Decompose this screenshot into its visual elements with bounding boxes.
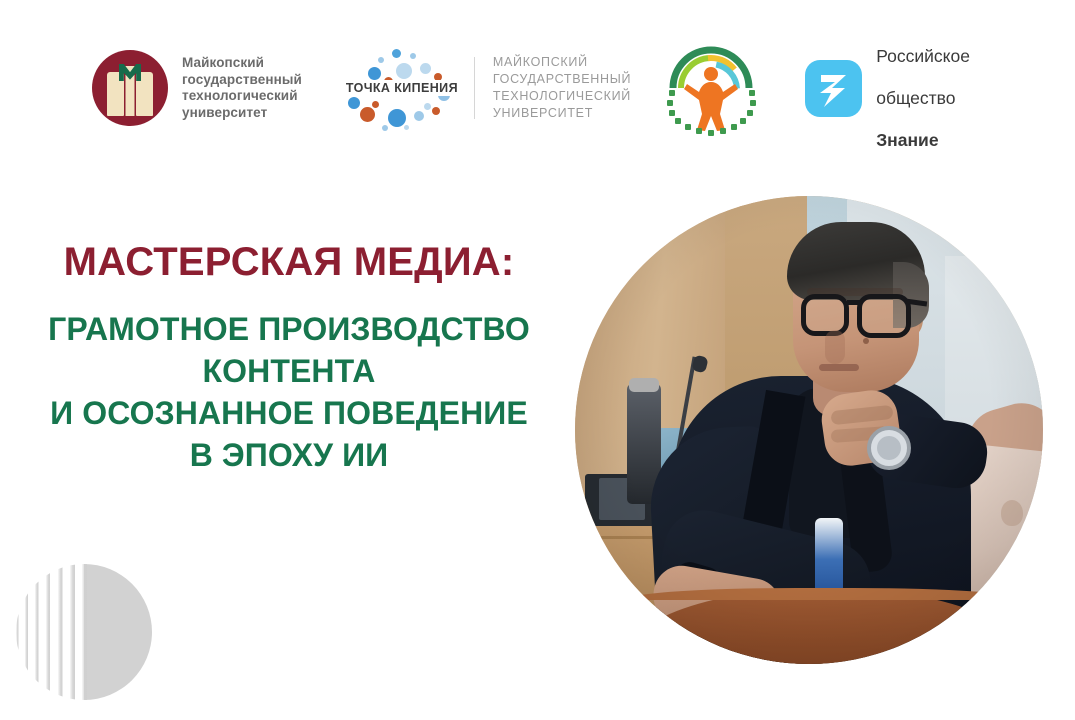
logo-znanie: Российское общество Знание	[805, 25, 970, 151]
mgtu-emblem-icon	[92, 50, 168, 126]
tochka-kipeniya-dots-icon: ТОЧКА КИПЕНИЯ	[338, 45, 466, 131]
logo-znanie-wordmark: Российское общество Знание	[876, 25, 970, 151]
poster-canvas: Майкопский государственный технологическ…	[0, 0, 1075, 720]
title-block: МАСТЕРСКАЯ МЕДИА: ГРАМОТНОЕ ПРОИЗВОДСТВО…	[0, 238, 578, 476]
poster-title: МАСТЕРСКАЯ МЕДИА:	[0, 238, 578, 286]
subtitle-line-3: И ОСОЗНАННОЕ ПОВЕДЕНИЕ	[0, 392, 578, 434]
logo-mgtu-partner-wordmark: МАЙКОПСКИЙ ГОСУДАРСТВЕННЫЙ ТЕХНОЛОГИЧЕСК…	[493, 54, 631, 122]
logo-tochka-kipeniya: ТОЧКА КИПЕНИЯ МАЙКОПСКИЙ ГОСУДАРСТВЕННЫЙ…	[338, 45, 631, 131]
subtitle-line-2: КОНТЕНТА	[0, 350, 578, 392]
subtitle-line-4: В ЭПОХУ ИИ	[0, 434, 578, 476]
logo-divider	[474, 57, 475, 119]
subtitle-line-1: ГРАМОТНОЕ ПРОИЗВОДСТВО	[0, 308, 578, 350]
znanie-line-1: Российское	[876, 46, 970, 66]
tochka-kipeniya-label: ТОЧКА КИПЕНИЯ	[344, 80, 460, 96]
logo-bar: Майкопский государственный технологическ…	[92, 38, 1017, 138]
znanie-line-2: общество	[876, 88, 955, 108]
logo-rainbow-person	[661, 42, 761, 134]
logo-mgtu: Майкопский государственный технологическ…	[92, 50, 302, 126]
logo-mgtu-wordmark: Майкопский государственный технологическ…	[182, 55, 302, 121]
znanie-line-3: Знание	[876, 130, 938, 150]
speaker-photo	[575, 196, 1043, 664]
poster-subtitle: ГРАМОТНОЕ ПРОИЗВОДСТВО КОНТЕНТА И ОСОЗНА…	[0, 308, 578, 476]
znanie-z-lightning-icon	[805, 60, 862, 117]
decorative-striped-circle	[14, 562, 154, 702]
book-shape	[106, 64, 154, 116]
